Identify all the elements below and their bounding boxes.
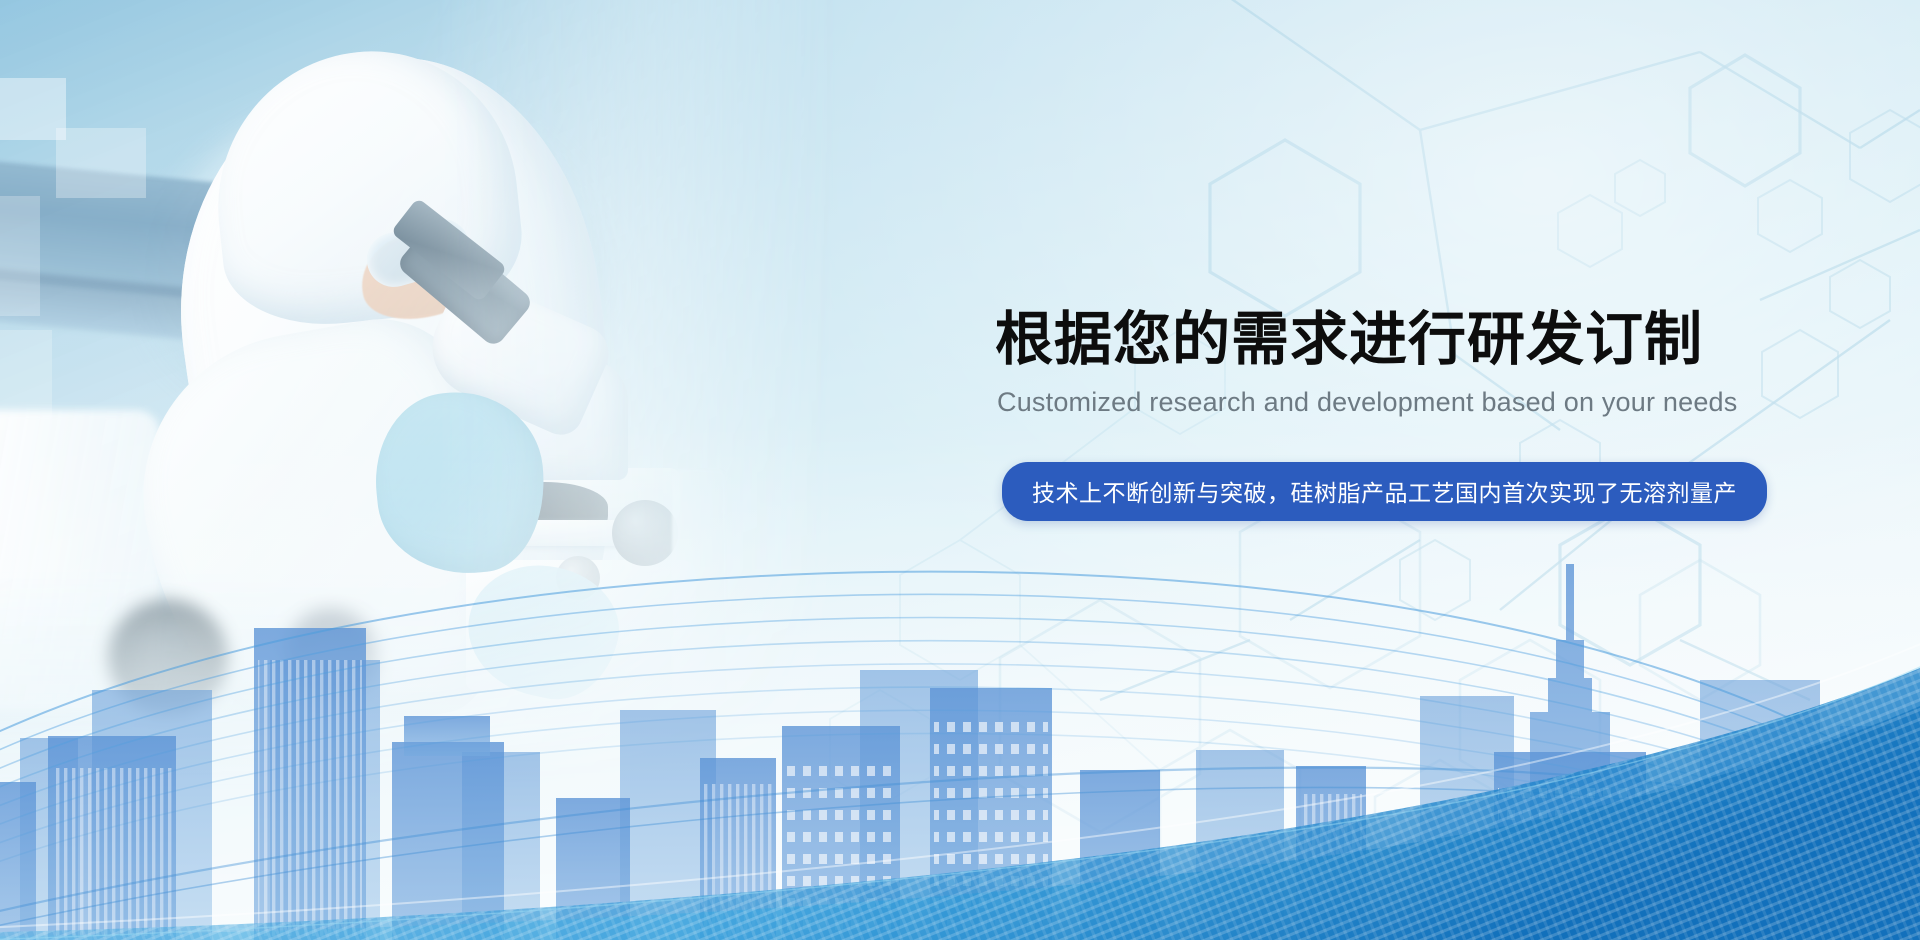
highlight-badge[interactable]: 技术上不断创新与突破，硅树脂产品工艺国内首次实现了无溶剂量产 — [1002, 462, 1767, 521]
hero-text-block: 根据您的需求进行研发订制 Customized research and dev… — [995, 310, 1815, 521]
page-subtitle: Customized research and development base… — [997, 387, 1815, 418]
page-title: 根据您的需求进行研发订制 — [995, 310, 1815, 371]
city-skyline-silhouette — [0, 520, 1920, 940]
hero-banner: 根据您的需求进行研发订制 Customized research and dev… — [0, 0, 1920, 940]
